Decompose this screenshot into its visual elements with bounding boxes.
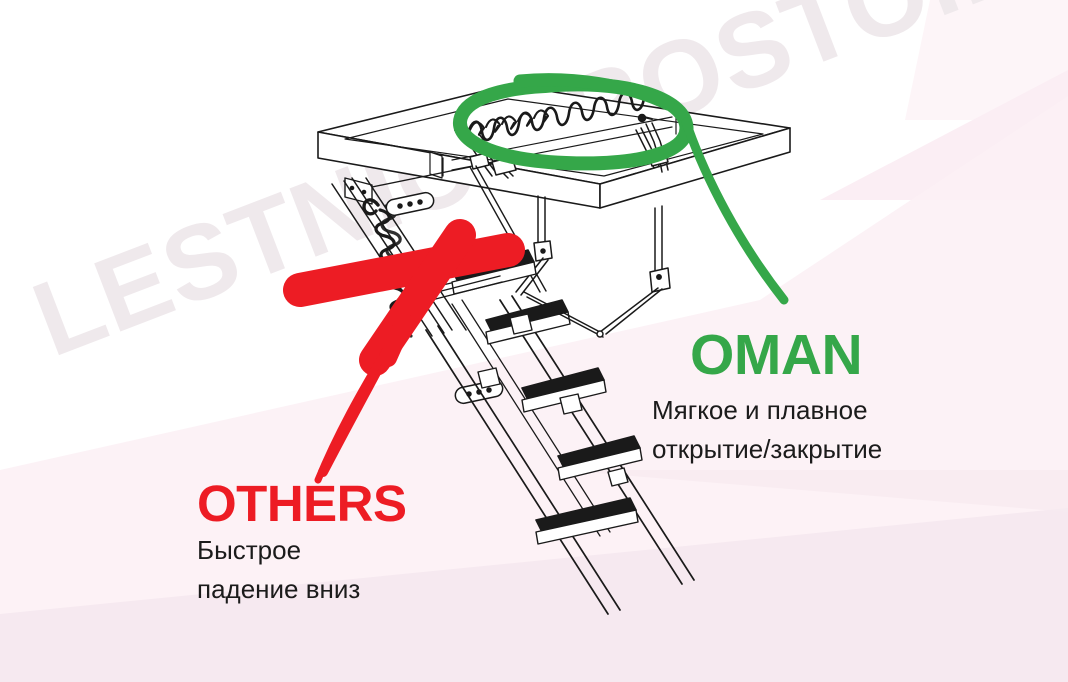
green-circle-highlight [460, 80, 686, 164]
green-pointer-line [686, 122, 784, 300]
infographic-canvas: LESTNIC-PROSTO.RU [0, 0, 1068, 682]
annotation-marks [0, 0, 1068, 682]
red-arrow-up-left [318, 320, 404, 480]
